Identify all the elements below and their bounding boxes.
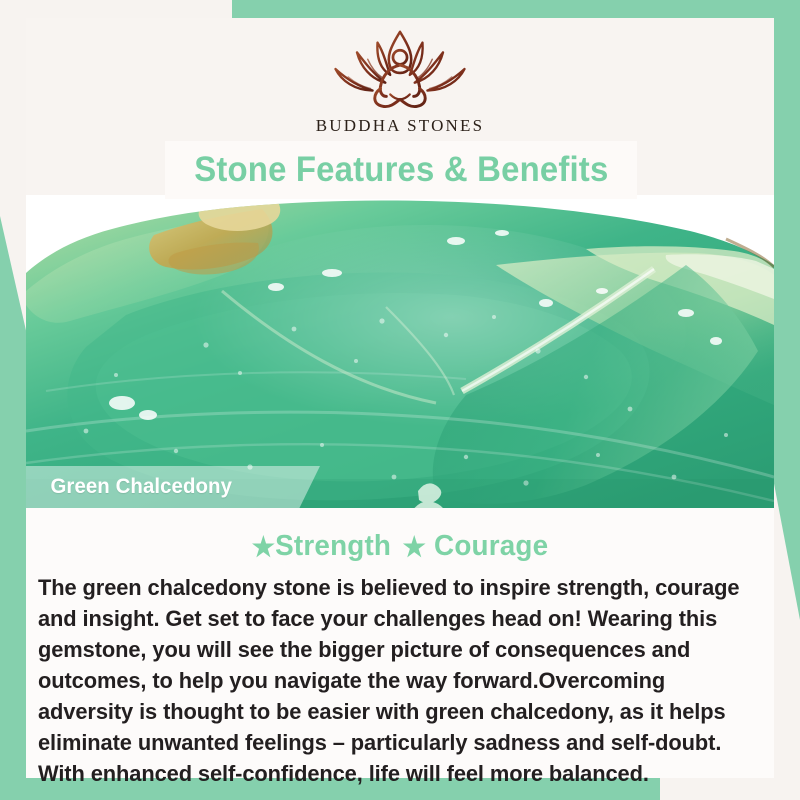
photo-caption: Green Chalcedony [29,475,232,499]
star-icon-1: ★ [252,532,275,562]
benefits-section: ★Strength★ Courage The green chalcedony … [26,508,774,778]
benefits-description: The green chalcedony stone is believed t… [38,572,749,789]
lotus-meditation-icon [320,26,480,114]
decor-band-top-right [232,0,800,18]
photo-caption-bar: Green Chalcedony [26,466,320,508]
brand-name: BUDDHA STONES [316,116,485,136]
title-banner: Stone Features & Benefits [165,141,637,199]
page-title: Stone Features & Benefits [194,150,608,190]
benefit-keyword-strength: Strength [275,530,391,562]
benefit-keyword-courage: Courage [434,530,548,562]
decor-band-right [774,0,800,620]
poster-canvas: BUDDHA STONES Stone Features & Benefits [0,0,800,800]
page-panel: BUDDHA STONES Stone Features & Benefits [26,18,774,778]
star-icon-2: ★ [403,532,426,562]
logo-lockup: BUDDHA STONES [26,26,774,136]
benefit-keywords: ★Strength★ Courage [41,530,759,563]
decor-band-left [0,198,26,800]
gemstone-photo: Green Chalcedony [26,195,774,508]
